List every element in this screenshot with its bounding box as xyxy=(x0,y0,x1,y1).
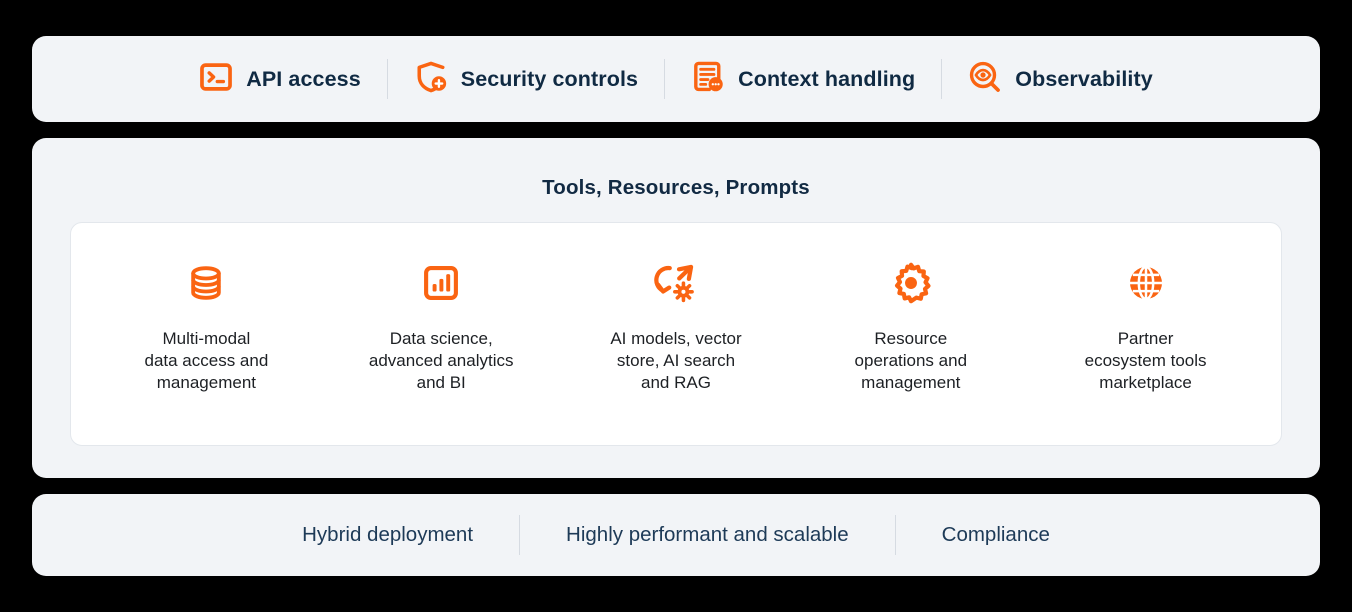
panel-title: Tools, Resources, Prompts xyxy=(70,176,1282,200)
attributes-bar: Hybrid deployment Highly performant and … xyxy=(32,494,1320,576)
tile-multi-modal-data-access[interactable]: Multi-modal data access and management xyxy=(89,260,324,394)
database-icon xyxy=(186,260,226,306)
gear-icon xyxy=(890,260,932,306)
capability-security-controls[interactable]: Security controls xyxy=(388,60,664,99)
capability-label: Context handling xyxy=(738,67,915,92)
attribute-highly-performant[interactable]: Highly performant and scalable xyxy=(520,523,895,547)
capability-label: Observability xyxy=(1015,67,1153,92)
globe-icon xyxy=(1126,260,1166,306)
tile-resource-operations[interactable]: Resource operations and management xyxy=(793,260,1028,394)
tools-resources-prompts-panel: Tools, Resources, Prompts Multi-modal da… xyxy=(32,138,1320,478)
attribute-hybrid-deployment[interactable]: Hybrid deployment xyxy=(256,523,519,547)
arrows-gear-icon xyxy=(654,260,698,306)
shield-plus-icon xyxy=(414,60,448,99)
tile-label: AI models, vector store, AI search and R… xyxy=(610,328,741,394)
bar-chart-icon xyxy=(422,260,460,306)
capability-api-access[interactable]: API access xyxy=(173,60,387,99)
eye-magnifier-icon xyxy=(968,60,1002,99)
attribute-compliance[interactable]: Compliance xyxy=(896,523,1096,547)
capability-label: Security controls xyxy=(461,67,638,92)
capability-context-handling[interactable]: Context handling xyxy=(665,60,941,99)
capability-observability[interactable]: Observability xyxy=(942,60,1179,99)
tile-data-science-analytics[interactable]: Data science, advanced analytics and BI xyxy=(324,260,559,394)
tools-card: Multi-modal data access and management D… xyxy=(70,222,1282,446)
capability-label: API access xyxy=(246,67,361,92)
tile-label: Data science, advanced analytics and BI xyxy=(369,328,514,394)
tile-label: Multi-modal data access and management xyxy=(144,328,268,394)
document-ellipsis-icon xyxy=(691,60,725,99)
tile-label: Resource operations and management xyxy=(855,328,967,394)
tile-ai-models-vector-store[interactable]: AI models, vector store, AI search and R… xyxy=(559,260,794,394)
terminal-icon xyxy=(199,60,233,99)
capability-bar: API access Security controls xyxy=(32,36,1320,122)
tile-label: Partner ecosystem tools marketplace xyxy=(1085,328,1207,394)
diagram-canvas: API access Security controls xyxy=(0,0,1352,612)
tile-partner-ecosystem[interactable]: Partner ecosystem tools marketplace xyxy=(1028,260,1263,394)
